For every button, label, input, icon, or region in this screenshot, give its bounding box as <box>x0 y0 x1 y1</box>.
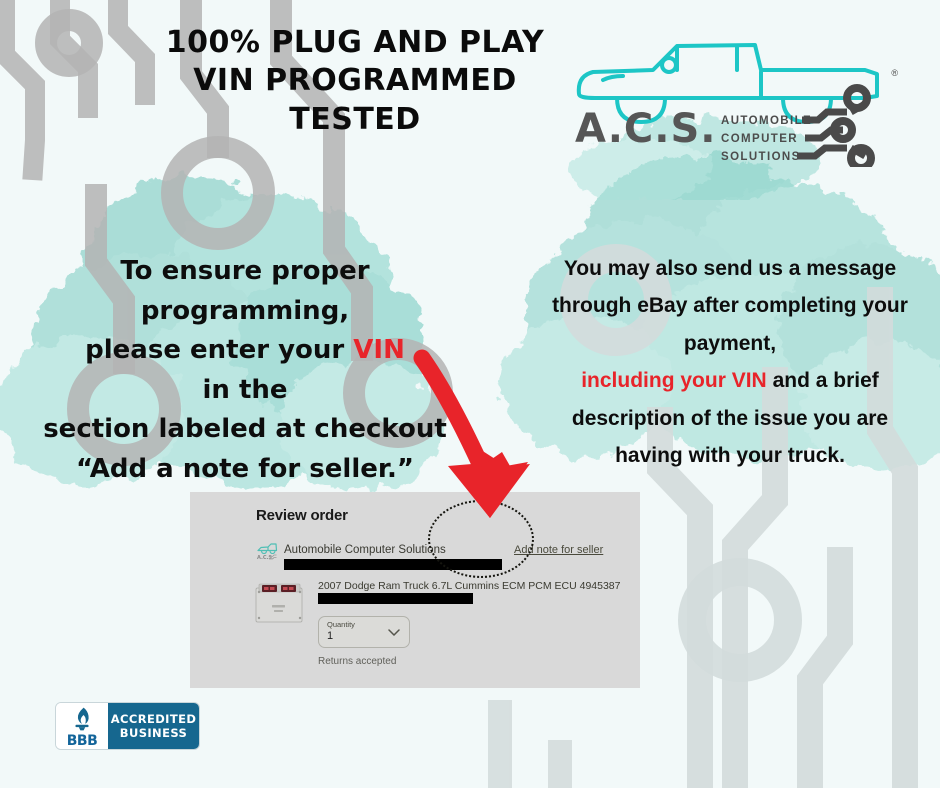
copy-left: To ensure proper programming, please ent… <box>30 252 460 489</box>
bbb-line-1: ACCREDITED <box>111 712 197 726</box>
copy-left-line-5: section labeled at checkout <box>30 410 460 450</box>
logo-svg: A.C.S. AUTOMOBILE COMPUTER SOLUTIONS <box>565 32 900 167</box>
bbb-abbr: BBB <box>67 733 98 749</box>
ecm-module-thumbnail-icon <box>252 581 308 631</box>
logo-brand-text: A.C.S. <box>575 106 716 152</box>
poster-canvas: 100% PLUG AND PLAY VIN PROGRAMMED TESTED… <box>0 0 940 788</box>
quantity-label: Quantity <box>327 620 355 629</box>
bbb-text-panel: ACCREDITED BUSINESS <box>108 703 199 749</box>
chevron-down-icon <box>388 629 400 637</box>
returns-accepted-text: Returns accepted <box>318 656 396 667</box>
product-redaction-bar <box>318 593 473 604</box>
svg-text:AUTOMOBILE: AUTOMOBILE <box>721 115 812 127</box>
product-title: 2007 Dodge Ram Truck 6.7L Cummins ECM PC… <box>318 580 621 592</box>
svg-text:COMPUTER: COMPUTER <box>721 133 798 145</box>
bbb-registered-mark: ® <box>193 741 197 747</box>
review-order-title: Review order <box>256 507 348 524</box>
seller-name: Automobile Computer Solutions <box>284 544 446 556</box>
bbb-accredited-business-badge[interactable]: BBB ACCREDITED BUSINESS ® <box>55 702 200 750</box>
copy-right-line-3: payment, <box>535 325 925 362</box>
copy-left-line-2: programming, <box>30 292 460 332</box>
copy-right-line-1: You may also send us a message <box>535 250 925 287</box>
dotted-circle-highlight-icon <box>428 500 534 578</box>
svg-text:A.C.S.: A.C.S. <box>257 555 274 561</box>
copy-right: You may also send us a message through e… <box>535 250 925 474</box>
svg-text:SOLUTIONS: SOLUTIONS <box>721 151 801 163</box>
quantity-select[interactable]: Quantity 1 <box>318 616 410 648</box>
seller-logo-avatar-icon: A.C.S. <box>256 542 278 562</box>
copy-left-line-1: To ensure proper <box>30 252 460 292</box>
headline-line-2: VIN PROGRAMMED <box>130 62 580 100</box>
bbb-logo-panel: BBB <box>56 703 108 749</box>
copy-left-line-4: in the <box>30 371 460 411</box>
copy-right-line-2: through eBay after completing your <box>535 287 925 324</box>
ebay-checkout-screenshot: Review order A.C.S. Automobile Computer … <box>190 492 640 688</box>
acs-logo: A.C.S. AUTOMOBILE COMPUTER SOLUTIONS ® <box>565 32 900 167</box>
copy-left-line-6: “Add a note for seller.” <box>30 450 460 490</box>
logo-registered-mark: ® <box>891 68 898 78</box>
bbb-torch-icon <box>69 706 95 732</box>
copy-right-line-4: including your VIN and a brief <box>535 362 925 399</box>
quantity-value: 1 <box>327 630 333 642</box>
bbb-line-2: BUSINESS <box>120 726 187 740</box>
copy-right-line-6: having with your truck. <box>535 437 925 474</box>
copy-left-line-3: please enter your VIN <box>30 331 460 371</box>
copy-right-line-5: description of the issue you are <box>535 400 925 437</box>
pickup-truck-outline-icon <box>579 45 877 98</box>
headline-line-3: TESTED <box>130 101 580 139</box>
headline: 100% PLUG AND PLAY VIN PROGRAMMED TESTED <box>130 24 580 139</box>
headline-line-1: 100% PLUG AND PLAY <box>130 24 580 62</box>
